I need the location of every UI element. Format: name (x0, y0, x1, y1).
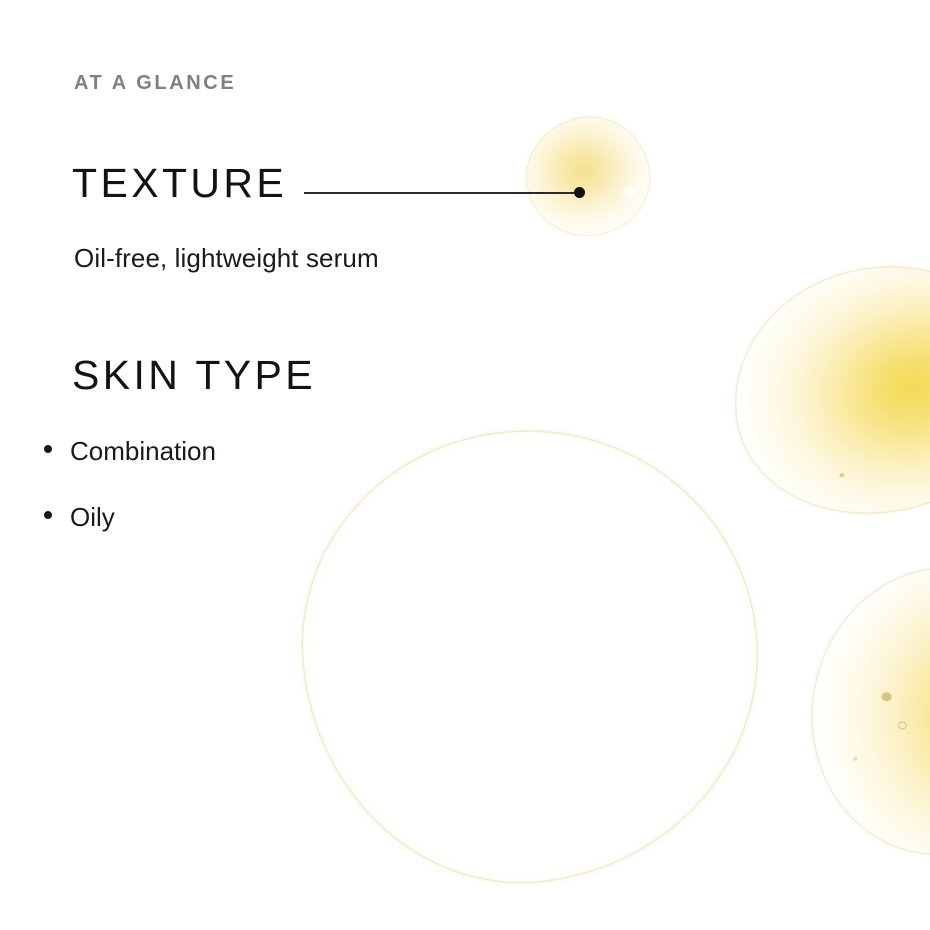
skin-type-list: Combination Oily (44, 437, 216, 533)
at-a-glance-infographic: AT A GLANCE TEXTURE Oil-free, lightweigh… (0, 0, 930, 930)
list-item-label: Oily (70, 503, 115, 533)
texture-heading: TEXTURE (72, 163, 287, 204)
list-item-label: Combination (70, 437, 216, 467)
list-item: Oily (44, 503, 216, 533)
texture-description: Oil-free, lightweight serum (74, 243, 379, 274)
leader-line (304, 192, 578, 194)
texture-leader-line (304, 186, 585, 200)
bullet-icon (44, 511, 52, 519)
bullet-icon (44, 445, 52, 453)
eyebrow-label: AT A GLANCE (74, 73, 236, 93)
leader-endpoint-dot (574, 187, 585, 198)
list-item: Combination (44, 437, 216, 467)
infographic-content: AT A GLANCE TEXTURE Oil-free, lightweigh… (0, 0, 930, 930)
skin-type-heading: SKIN TYPE (72, 355, 316, 396)
